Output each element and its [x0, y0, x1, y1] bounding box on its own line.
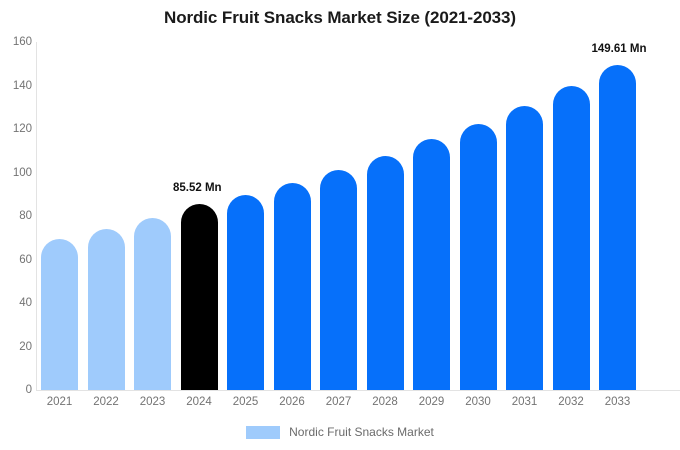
data-label-2024: 85.52 Mn — [173, 182, 222, 194]
y-axis-tick-label: 100 — [0, 167, 32, 179]
legend-item-label: Nordic Fruit Snacks Market — [289, 425, 434, 439]
data-label-2033: 149.61 Mn — [592, 43, 647, 55]
bar-2027[interactable] — [320, 170, 357, 390]
chart-title: Nordic Fruit Snacks Market Size (2021-20… — [0, 8, 680, 28]
x-axis-tick-label: 2024 — [175, 396, 223, 408]
chart-legend: Nordic Fruit Snacks Market — [0, 425, 680, 439]
x-axis-tick-label: 2030 — [454, 396, 502, 408]
bar-2022[interactable] — [88, 229, 125, 390]
x-axis-tick-label: 2029 — [408, 396, 456, 408]
bar-2028[interactable] — [367, 156, 404, 390]
bar-2033[interactable] — [599, 65, 636, 390]
plot-area — [36, 42, 680, 390]
bar-2023[interactable] — [134, 218, 171, 390]
bar-2026[interactable] — [274, 183, 311, 390]
legend-swatch-icon — [246, 426, 280, 439]
x-axis-line — [36, 390, 680, 391]
x-axis-tick-label: 2021 — [36, 396, 84, 408]
x-axis-tick-label: 2026 — [268, 396, 316, 408]
x-axis-tick-label: 2022 — [82, 396, 130, 408]
x-axis-tick-label: 2031 — [501, 396, 549, 408]
bar-2025[interactable] — [227, 195, 264, 390]
y-axis-tick-label: 120 — [0, 123, 32, 135]
bar-2032[interactable] — [553, 86, 590, 390]
y-axis-tick-label: 160 — [0, 36, 32, 48]
y-axis-tick-label: 140 — [0, 80, 32, 92]
x-axis-tick-label: 2023 — [129, 396, 177, 408]
bar-2031[interactable] — [506, 106, 543, 390]
x-axis-tick-label: 2032 — [547, 396, 595, 408]
y-axis-tick-label: 0 — [0, 384, 32, 396]
x-axis-tick-label: 2025 — [222, 396, 270, 408]
y-axis-tick-label: 80 — [0, 210, 32, 222]
x-axis-tick-label: 2033 — [594, 396, 642, 408]
bar-2021[interactable] — [41, 239, 78, 390]
y-axis-tick-label: 20 — [0, 341, 32, 353]
y-axis-tick-label: 40 — [0, 297, 32, 309]
bar-chart: Nordic Fruit Snacks Market Size (2021-20… — [0, 0, 680, 450]
bar-2029[interactable] — [413, 139, 450, 390]
y-axis-tick-label: 60 — [0, 254, 32, 266]
x-axis-tick-label: 2027 — [315, 396, 363, 408]
bar-2030[interactable] — [460, 124, 497, 390]
x-axis-tick-label: 2028 — [361, 396, 409, 408]
bar-2024[interactable] — [181, 204, 218, 390]
